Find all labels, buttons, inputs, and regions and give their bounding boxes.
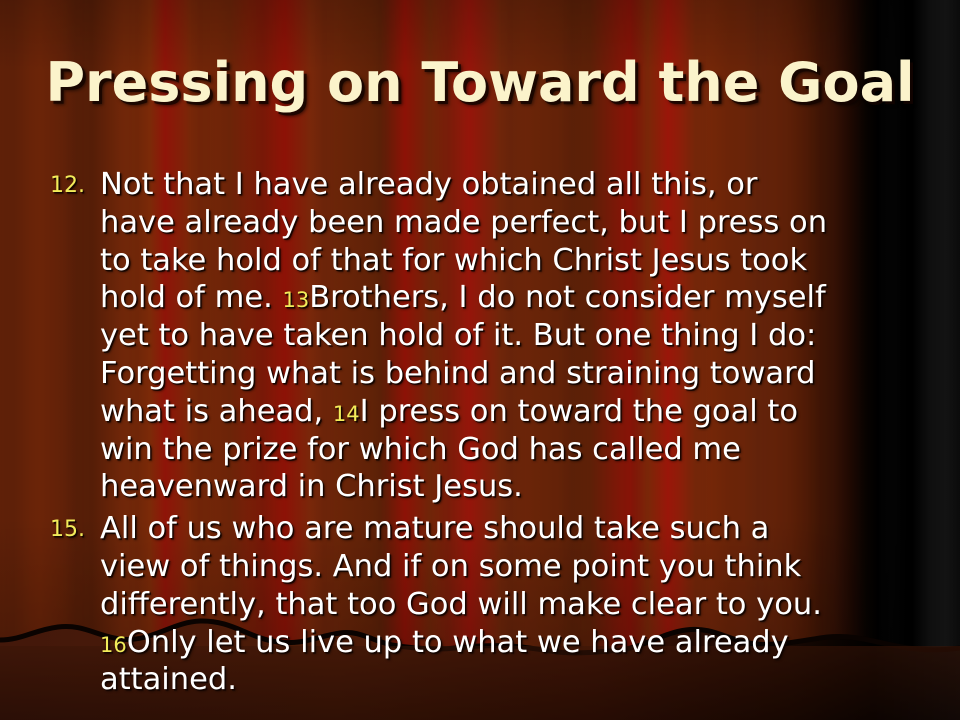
slide-body: 12. Not that I have already obtained all… <box>42 166 914 699</box>
scripture-line: view of things. And if on some point you… <box>100 548 914 586</box>
scripture-line: Forgetting what is behind and straining … <box>100 355 914 393</box>
scripture-text: win the prize for which God has called m… <box>100 432 741 467</box>
paragraph-number-marker: 15. <box>50 515 96 545</box>
scripture-text: what is ahead, <box>100 394 333 429</box>
scripture-line: All of us who are mature should take suc… <box>100 510 914 548</box>
page-title: Pressing on Toward the Goal <box>0 56 960 110</box>
scripture-text: view of things. And if on some point you… <box>100 549 801 584</box>
scripture-line: differently, that too God will make clea… <box>100 586 914 624</box>
scripture-line: hold of me. 13Brothers, I do not conside… <box>100 279 914 317</box>
scripture-text: Not that I have already obtained all thi… <box>100 167 757 202</box>
scripture-line: heavenward in Christ Jesus. <box>100 468 914 506</box>
scripture-text: differently, that too God will make clea… <box>100 587 822 622</box>
scripture-line: win the prize for which God has called m… <box>100 431 914 469</box>
scripture-text: I press on toward the goal to <box>360 394 798 429</box>
scripture-text: Only let us live up to what we have alre… <box>127 625 789 660</box>
scripture-paragraph: 15. All of us who are mature should take… <box>42 510 914 699</box>
scripture-text: heavenward in Christ Jesus. <box>100 469 523 504</box>
scripture-line: attained. <box>100 661 914 699</box>
scripture-line: have already been made perfect, but I pr… <box>100 204 914 242</box>
scripture-text: to take hold of that for which Christ Je… <box>100 243 807 278</box>
scripture-text: All of us who are mature should take suc… <box>100 511 769 546</box>
scripture-text: have already been made perfect, but I pr… <box>100 205 827 240</box>
scripture-line: yet to have taken hold of it. But one th… <box>100 317 914 355</box>
slide-canvas: Pressing on Toward the Goal 12. Not that… <box>0 0 960 720</box>
verse-number: 14 <box>333 402 360 426</box>
scripture-text: hold of me. <box>100 280 282 315</box>
paragraph-number-marker: 12. <box>50 171 96 201</box>
verse-number: 13 <box>282 288 309 312</box>
scripture-line: 16Only let us live up to what we have al… <box>100 624 914 662</box>
scripture-paragraph: 12. Not that I have already obtained all… <box>42 166 914 506</box>
scripture-text: attained. <box>100 662 237 697</box>
scripture-line: Not that I have already obtained all thi… <box>100 166 914 204</box>
scripture-text: Forgetting what is behind and straining … <box>100 356 815 391</box>
scripture-line: what is ahead, 14I press on toward the g… <box>100 393 914 431</box>
verse-number: 16 <box>100 633 127 657</box>
scripture-text: Brothers, I do not consider myself <box>309 280 826 315</box>
scripture-text: yet to have taken hold of it. But one th… <box>100 318 816 353</box>
scripture-line: to take hold of that for which Christ Je… <box>100 242 914 280</box>
